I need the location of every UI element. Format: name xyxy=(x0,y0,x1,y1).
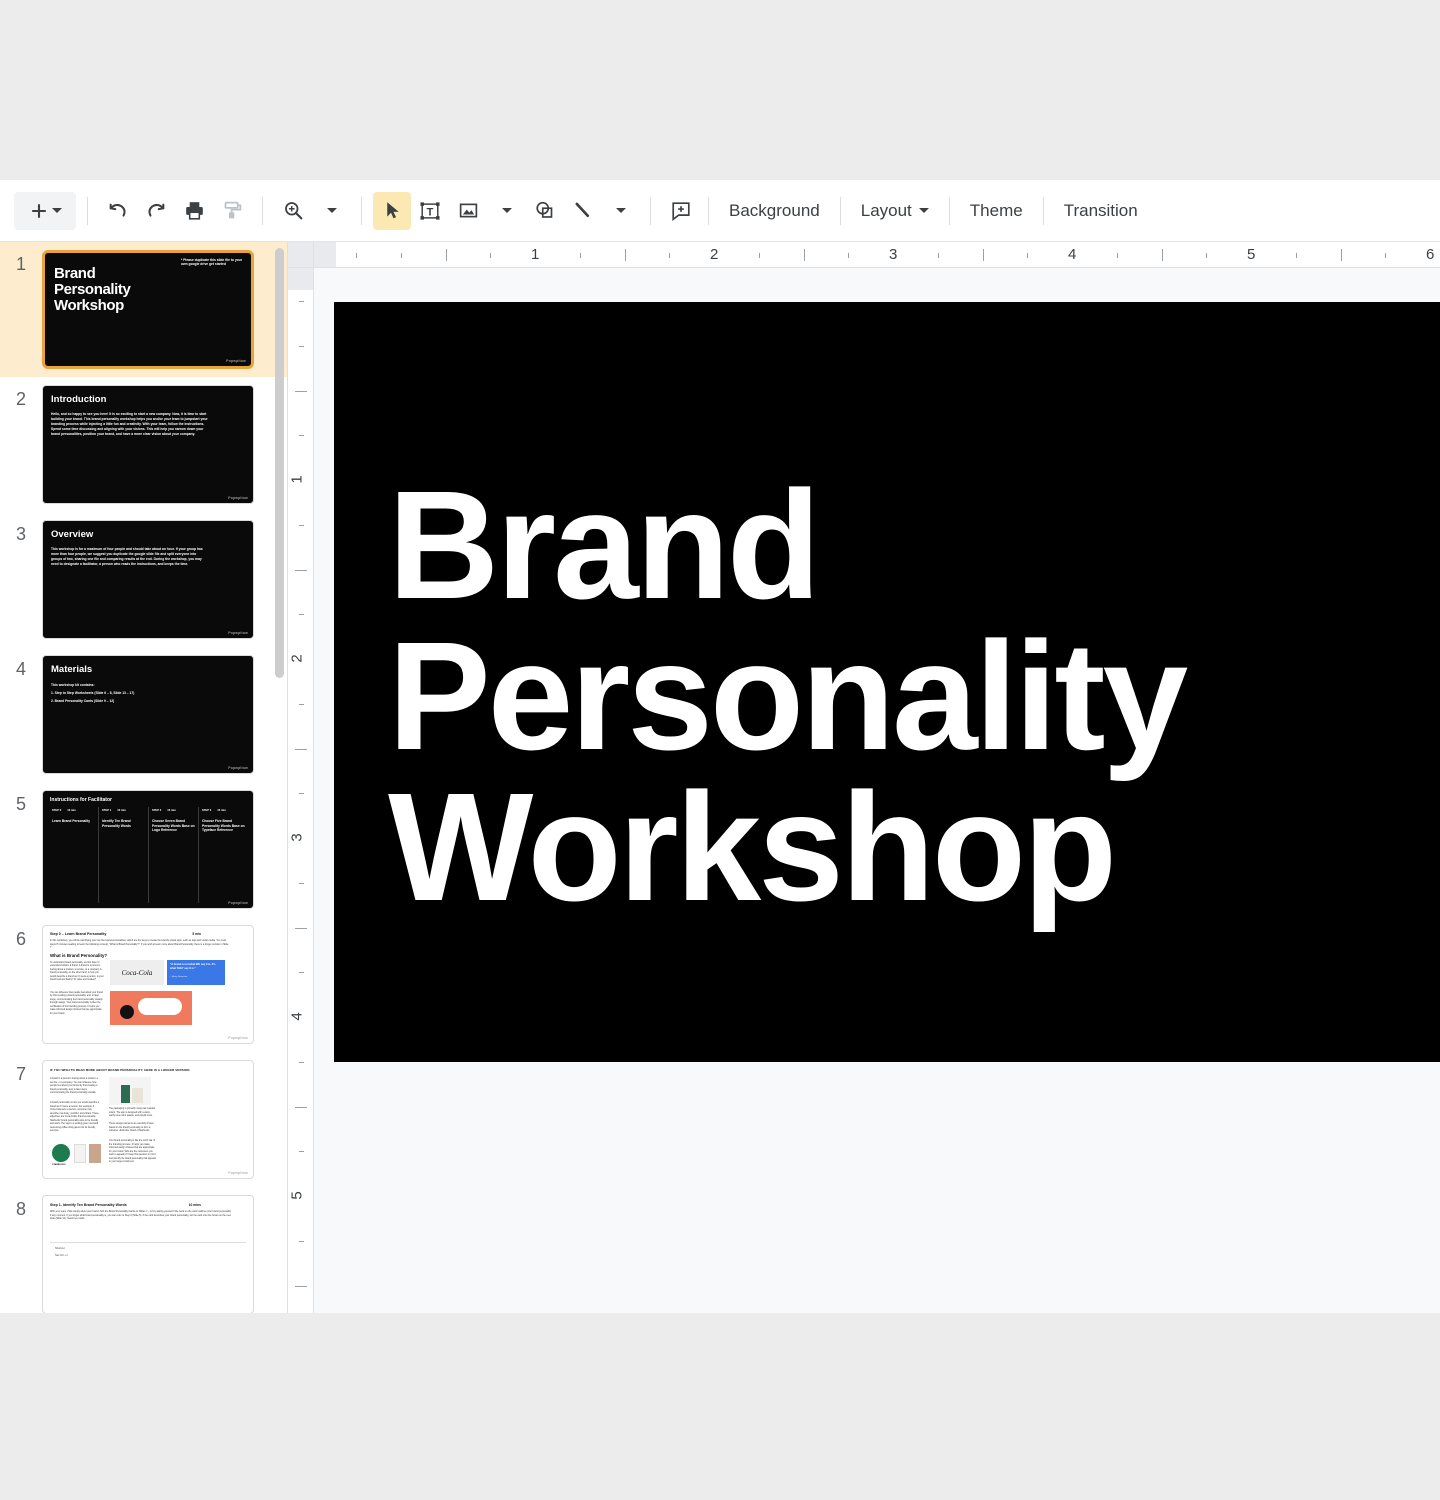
ruler-tick xyxy=(299,301,304,302)
slide1-title: BrandPersonalityWorkshop xyxy=(54,266,130,313)
slide8-title: Step 1- Identify Ten Brand Personality W… xyxy=(50,1203,127,1207)
slide2-body: Hello, and so happy to see you here! It … xyxy=(51,412,211,437)
slide-number: 4 xyxy=(0,655,42,680)
step-heading: Identify Ten Brand Personality Words xyxy=(102,819,145,828)
slide6-intro: In this workshop, you will be identifyin… xyxy=(50,939,230,950)
undo-icon xyxy=(107,200,129,222)
ruler-number: 1 xyxy=(289,475,306,483)
ruler-tick xyxy=(983,249,984,261)
ruler-margin-region xyxy=(288,268,313,290)
toolbar-divider xyxy=(87,197,88,225)
slide-number: 5 xyxy=(0,790,42,815)
slide8-label-1: Shortcut xyxy=(55,1247,65,1250)
slide-preview[interactable]: Materials This workshop kit contains: 1.… xyxy=(42,655,254,774)
slide-number: 3 xyxy=(0,520,42,545)
ruler-tick xyxy=(490,253,491,258)
toolbar-divider xyxy=(949,197,950,225)
shape-button[interactable] xyxy=(525,192,563,230)
ruler-tick xyxy=(299,972,304,973)
ruler-tick xyxy=(299,346,304,347)
step-label: STEP 3 xyxy=(202,809,211,812)
line-button[interactable] xyxy=(563,192,601,230)
slide4-body: This workshop kit contains: xyxy=(51,683,95,687)
title-line-3: Workshop xyxy=(388,772,1428,923)
ruler-number: 3 xyxy=(289,833,306,841)
select-tool-button[interactable] xyxy=(373,192,411,230)
text-box-button[interactable]: T xyxy=(411,192,449,230)
title-line-1: Brand xyxy=(388,470,1428,621)
line-icon xyxy=(572,200,593,221)
chevron-down-icon xyxy=(919,208,929,213)
ruler-tick xyxy=(1027,253,1028,258)
theme-label: Theme xyxy=(970,201,1023,221)
slide4-list-item-1: 1. Step to Step Worksheets (Slide 6 – 8,… xyxy=(51,691,134,695)
ruler-tick xyxy=(446,249,447,261)
coca-cola-logo-label: Coca-Cola xyxy=(122,969,153,977)
slide-preview[interactable]: IF YOU WISH TO READ MORE ABOUT BRAND PER… xyxy=(42,1060,254,1179)
slide3-body: This workshop is for a maximum of four p… xyxy=(51,547,206,567)
ruler-tick xyxy=(299,1151,304,1152)
zoom-button[interactable] xyxy=(274,192,312,230)
layout-label: Layout xyxy=(861,201,912,221)
slide7-col1-b: A brand personality is how you would des… xyxy=(50,1102,100,1134)
undo-button[interactable] xyxy=(99,192,137,230)
ruler-tick xyxy=(1296,253,1297,258)
ruler-tick xyxy=(580,253,581,258)
slide-number: 2 xyxy=(0,385,42,410)
ruler-tick xyxy=(669,253,670,258)
slide-preview[interactable]: Step 1- Identify Ten Brand Personality W… xyxy=(42,1195,254,1313)
slide-preview[interactable]: Overview This workshop is for a maximum … xyxy=(42,520,254,639)
ruler-tick xyxy=(299,793,304,794)
new-slide-dropdown-caret-icon[interactable] xyxy=(52,208,62,213)
slide-preview[interactable]: Instructions for Facilitator STEP 0 10 m… xyxy=(42,790,254,909)
zoom-dropdown-button[interactable] xyxy=(312,192,350,230)
illustration-image xyxy=(110,991,192,1025)
toolbar-divider xyxy=(708,197,709,225)
slide5-step-table: STEP 0 10 min Learn Brand Personality ST… xyxy=(49,807,248,903)
slide-footer-mark: Popwpltow xyxy=(228,1171,248,1175)
toolbar-divider xyxy=(361,197,362,225)
ruler-tick xyxy=(295,749,307,750)
thumbnail-slide-5[interactable]: 5 Instructions for Facilitator STEP 0 10… xyxy=(0,782,287,917)
ruler-tick xyxy=(299,435,304,436)
step-time: 10 min xyxy=(117,809,126,812)
step-heading: Choose Seven Brand Personality Words Bas… xyxy=(152,819,195,833)
ruler-tick xyxy=(299,525,304,526)
ruler-tick xyxy=(295,391,307,392)
speech-bubble xyxy=(138,998,182,1015)
ruler-tick xyxy=(1341,249,1342,261)
add-comment-button[interactable] xyxy=(662,192,700,230)
slide8-time: 10 mins xyxy=(189,1203,201,1207)
ruler-number: 4 xyxy=(289,1012,306,1020)
ruler-tick xyxy=(625,249,626,261)
image-icon xyxy=(458,200,479,221)
insert-image-dropdown-button[interactable] xyxy=(487,192,525,230)
step-label: STEP 0 xyxy=(52,809,61,812)
transition-label: Transition xyxy=(1064,201,1138,221)
slide4-list-item-2: 2. Brand Personality Cards (Slide 9 – 12… xyxy=(51,699,114,703)
slide-footer-mark: Popwpltow xyxy=(226,359,246,363)
starbucks-logo-image xyxy=(52,1144,70,1162)
slide-number: 1 xyxy=(0,250,42,275)
paint-roller-icon xyxy=(222,200,243,221)
redo-button[interactable] xyxy=(137,192,175,230)
slide3-title: Overview xyxy=(51,529,93,540)
step-time: 10 min xyxy=(67,809,76,812)
step-heading: Learn Brand Personality xyxy=(52,819,95,824)
printer-icon xyxy=(184,200,205,221)
slide6-title: Step 0 – Learn Brand Personality xyxy=(50,932,106,936)
toolbar-divider xyxy=(840,197,841,225)
slides-editor-window: T xyxy=(0,180,1440,1313)
ruler-tick xyxy=(848,253,849,258)
thumbnail-slide-6[interactable]: 6 Step 0 – Learn Brand Personality 5 min… xyxy=(0,917,287,1052)
slide-preview[interactable]: Introduction Hello, and so happy to see … xyxy=(42,385,254,504)
thumbnail-slide-7[interactable]: 7 IF YOU WISH TO READ MORE ABOUT BRAND P… xyxy=(0,1052,287,1187)
quote-attribution: – Marty Neumeier xyxy=(170,976,222,978)
ruler-tick xyxy=(295,1286,307,1287)
thumbnail-slide-4[interactable]: 4 Materials This workshop kit contains: … xyxy=(0,647,287,782)
svg-text:T: T xyxy=(427,206,434,218)
ruler-tick xyxy=(299,614,304,615)
ruler-tick xyxy=(1162,249,1163,261)
table-cell: STEP 2 15 min Choose Seven Brand Persona… xyxy=(149,807,199,903)
starbucks-packaging-image xyxy=(109,1077,151,1105)
new-slide-button[interactable] xyxy=(14,192,76,230)
ruler-tick xyxy=(299,1241,304,1242)
slide7-col2-c: Your brand personality is like the north… xyxy=(109,1140,157,1165)
slide-number: 7 xyxy=(0,1060,42,1085)
ruler-tick xyxy=(356,253,357,258)
chevron-down-icon xyxy=(327,208,337,213)
ruler-number: 1 xyxy=(531,246,539,263)
slide7-col2-b: These design elements are carefully chos… xyxy=(109,1123,157,1134)
transition-button[interactable]: Transition xyxy=(1052,192,1150,230)
title-line-2: Personality xyxy=(388,621,1428,772)
ruler-number: 5 xyxy=(1247,246,1255,263)
ruler-tick xyxy=(804,249,805,261)
insert-image-button[interactable] xyxy=(449,192,487,230)
slide6-body-col1: To understand brand personality, we firs… xyxy=(50,962,104,983)
slide-number: 8 xyxy=(0,1195,42,1220)
ruler-tick xyxy=(295,1107,307,1108)
line-dropdown-button[interactable] xyxy=(601,192,639,230)
slide7-col2-a: The packaging is primarily using raw mat… xyxy=(109,1108,157,1119)
slide-preview[interactable]: Step 0 – Learn Brand Personality 5 min I… xyxy=(42,925,254,1044)
avatar xyxy=(120,1005,134,1019)
slide6-body-col2: You can influence how people feel about … xyxy=(50,992,104,1016)
print-button[interactable] xyxy=(175,192,213,230)
slide7-col1-a: A brand is a person's feeling about a pr… xyxy=(50,1078,100,1096)
cursor-arrow-icon xyxy=(382,200,403,221)
thumbnail-slide-1[interactable]: 1 BrandPersonalityWorkshop * Please dupl… xyxy=(0,242,287,377)
step-heading: Choose Five Brand Personality Words Base… xyxy=(202,819,245,833)
slide-footer-mark: Popwpltow xyxy=(228,631,248,635)
shapes-icon xyxy=(534,200,555,221)
editor-body: 1 BrandPersonalityWorkshop * Please dupl… xyxy=(0,242,1440,1313)
thumbnail-slide-3[interactable]: 3 Overview This workshop is for a maximu… xyxy=(0,512,287,647)
slide-footer-mark: Popwpltow xyxy=(228,496,248,500)
toolbar-divider xyxy=(650,197,651,225)
ruler-tick xyxy=(1385,253,1386,258)
slide-footer-mark: Popwpltow xyxy=(228,766,248,770)
ruler-tick xyxy=(401,253,402,258)
ruler-tick xyxy=(938,253,939,258)
slide-footer-mark: Popwpltow xyxy=(228,901,248,905)
thumbnail-slide-2[interactable]: 2 Introduction Hello, and so happy to se… xyxy=(0,377,287,512)
slide-title-textbox[interactable]: Brand Personality Workshop xyxy=(388,470,1428,923)
slide2-title: Introduction xyxy=(51,394,106,405)
background-label: Background xyxy=(729,201,820,221)
text-box-icon: T xyxy=(419,200,441,222)
chevron-down-icon xyxy=(502,208,512,213)
cup-image-1 xyxy=(74,1144,86,1163)
quote-card: "A brand is not what WE say it is. It's … xyxy=(167,960,225,985)
step-time: 15 min xyxy=(217,809,226,812)
theme-button[interactable]: Theme xyxy=(958,192,1035,230)
slide7-title: IF YOU WISH TO READ MORE ABOUT BRAND PER… xyxy=(50,1068,240,1072)
slide-footer-mark: Popwpltow xyxy=(228,1036,248,1040)
ruler-number: 2 xyxy=(710,246,718,263)
slide5-title: Instructions for Facilitator xyxy=(50,797,112,803)
ruler-tick xyxy=(295,570,307,571)
ruler-number: 5 xyxy=(289,1191,306,1199)
ruler-tick xyxy=(299,1062,304,1063)
paint-format-button[interactable] xyxy=(213,192,251,230)
slide-editing-surface[interactable]: Brand Personality Workshop xyxy=(334,302,1440,1062)
ruler-tick xyxy=(295,928,307,929)
ruler-tick xyxy=(299,704,304,705)
ruler-number: 6 xyxy=(1426,246,1434,263)
ruler-tick xyxy=(1117,253,1118,258)
ruler-number: 4 xyxy=(1068,246,1076,263)
starbucks-logo-label: STARBUCKS xyxy=(52,1164,66,1166)
step-time: 15 min xyxy=(167,809,176,812)
comment-plus-icon xyxy=(670,200,692,222)
ruler-corner xyxy=(288,242,314,268)
slide-preview[interactable]: BrandPersonalityWorkshop * Please duplic… xyxy=(42,250,254,369)
toolbar-divider xyxy=(1043,197,1044,225)
table-cell: STEP 1 10 min Identify Ten Brand Persona… xyxy=(99,807,149,903)
slide1-note: * Please duplicate this slide file to yo… xyxy=(181,258,245,267)
slide4-title: Materials xyxy=(51,664,92,675)
ruler-tick xyxy=(759,253,760,258)
table-cell: STEP 0 10 min Learn Brand Personality xyxy=(49,807,99,903)
ruler-tick xyxy=(1206,253,1207,258)
filmstrip-scrollbar[interactable] xyxy=(275,248,284,678)
ruler-number: 3 xyxy=(889,246,897,263)
background-button[interactable]: Background xyxy=(717,192,832,230)
horizontal-ruler[interactable]: 123456 xyxy=(314,242,1440,268)
cup-image-2 xyxy=(89,1144,101,1163)
ruler-number: 2 xyxy=(289,654,306,662)
layout-button[interactable]: Layout xyxy=(849,192,941,230)
slide6-subtitle: What is Brand Personality? xyxy=(50,953,107,958)
coca-cola-logo-image: Coca-Cola xyxy=(110,960,164,985)
table-cell: STEP 3 15 min Choose Five Brand Personal… xyxy=(199,807,248,903)
toolbar-divider xyxy=(262,197,263,225)
slide-thumbnail-panel[interactable]: 1 BrandPersonalityWorkshop * Please dupl… xyxy=(0,242,288,1313)
magnifier-plus-icon xyxy=(283,200,304,221)
slide6-time: 5 min xyxy=(192,932,201,936)
thumbnail-slide-8[interactable]: 8 Step 1- Identify Ten Brand Personality… xyxy=(0,1187,287,1313)
ruler-margin-region xyxy=(314,242,336,267)
slide-number: 6 xyxy=(0,925,42,950)
step-label: STEP 2 xyxy=(152,809,161,812)
slide8-label-2: Set Ctrl + c xyxy=(55,1254,68,1257)
chevron-down-icon xyxy=(616,208,626,213)
step-label: STEP 1 xyxy=(102,809,111,812)
plus-icon xyxy=(29,201,49,221)
ruler-tick xyxy=(299,883,304,884)
redo-icon xyxy=(145,200,167,222)
slide8-body: With your team, think simply about your … xyxy=(50,1210,232,1221)
slide-canvas-area[interactable]: 123456 12345 Brand Personality Workshop xyxy=(288,242,1440,1313)
vertical-ruler[interactable]: 12345 xyxy=(288,268,314,1313)
editor-toolbar: T xyxy=(0,180,1440,242)
quote-text: "A brand is not what WE say it is. It's … xyxy=(170,963,222,971)
